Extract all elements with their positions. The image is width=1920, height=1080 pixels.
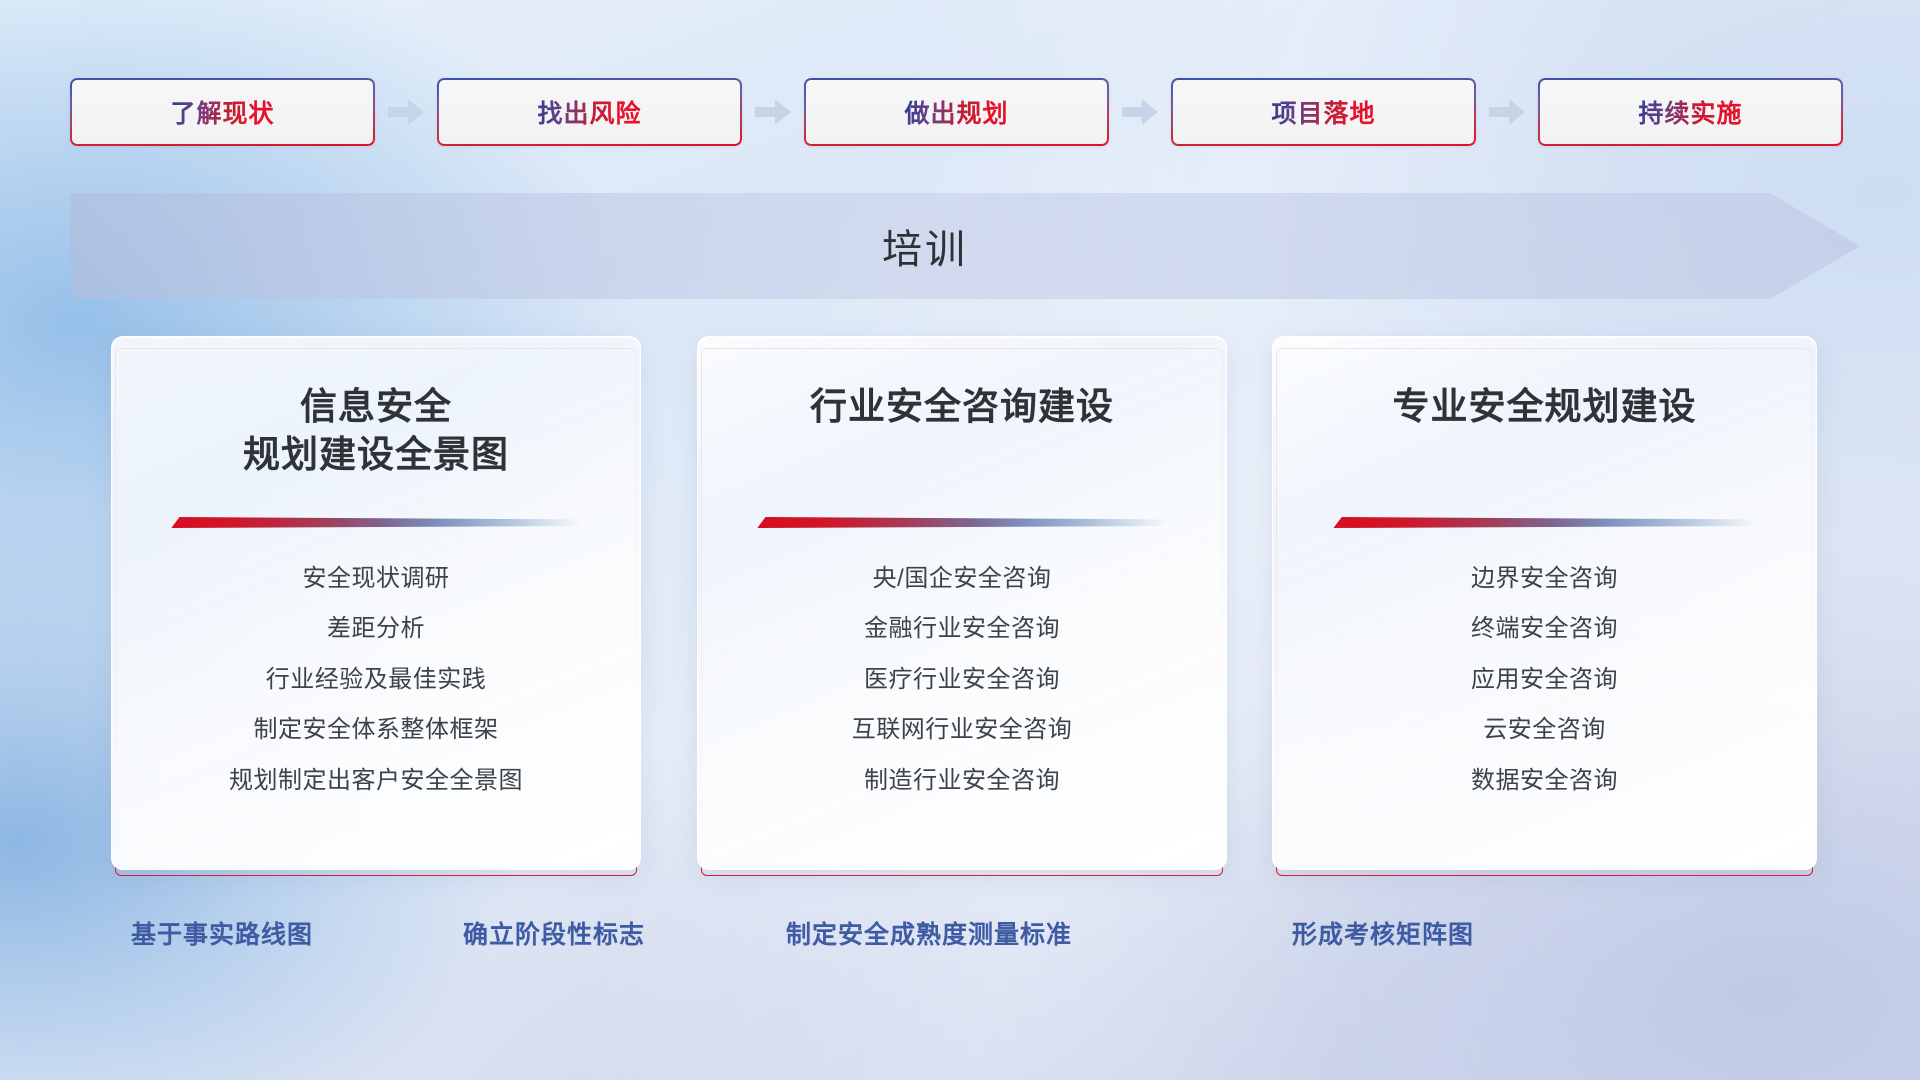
list-item: 差距分析 — [138, 604, 614, 654]
training-banner: 培训 — [70, 193, 1860, 299]
list-item: 医疗行业安全咨询 — [724, 655, 1200, 705]
process-step-label: 做出规划 — [904, 94, 1008, 130]
list-item: 安全现状调研 — [138, 554, 614, 604]
feature-card-1[interactable]: 信息安全 规划建设全景图 安全现状调研 差距分析 行业经验及最佳实践 制定安全体… — [111, 336, 641, 870]
list-item: 终端安全咨询 — [1299, 604, 1790, 654]
card-title-line: 专业安全规划建设 — [1299, 383, 1790, 431]
process-step-label: 了解现状 — [170, 94, 274, 130]
feature-card-2[interactable]: 行业安全咨询建设 央/国企安全咨询 金融行业安全咨询 医疗行业安全咨询 互联网行… — [697, 336, 1227, 870]
card-title-line: 信息安全 — [138, 383, 614, 431]
process-step-label: 找出风险 — [537, 94, 641, 130]
card-title-line: 规划建设全景图 — [138, 431, 614, 479]
feature-card-2-wrapper: 行业安全咨询建设 央/国企安全咨询 金融行业安全咨询 医疗行业安全咨询 互联网行… — [697, 336, 1227, 870]
card-divider-gradient — [171, 517, 580, 528]
process-step-label: 项目落地 — [1271, 94, 1375, 130]
feature-card-row: 信息安全 规划建设全景图 安全现状调研 差距分析 行业经验及最佳实践 制定安全体… — [0, 336, 1920, 876]
caption-label: 形成考核矩阵图 — [1292, 915, 1474, 951]
right-arrow-icon — [1109, 97, 1171, 127]
process-step-4[interactable]: 项目落地 — [1171, 78, 1476, 146]
card-divider-gradient — [1333, 517, 1755, 528]
list-item: 互联网行业安全咨询 — [724, 705, 1200, 755]
card-title: 信息安全 规划建设全景图 — [138, 383, 614, 495]
card-title: 行业安全咨询建设 — [724, 383, 1200, 495]
process-step-label: 持续实施 — [1638, 94, 1742, 130]
right-arrow-icon — [742, 97, 804, 127]
caption-label: 基于事实路线图 — [131, 915, 313, 951]
card-divider-gradient — [757, 517, 1166, 528]
card-item-list: 边界安全咨询 终端安全咨询 应用安全咨询 云安全咨询 数据安全咨询 — [1299, 554, 1790, 806]
caption-label: 制定安全成熟度测量标准 — [786, 915, 1072, 951]
list-item: 应用安全咨询 — [1299, 655, 1790, 705]
process-step-1[interactable]: 了解现状 — [70, 78, 375, 146]
list-item: 制定安全体系整体框架 — [138, 705, 614, 755]
card-item-list: 安全现状调研 差距分析 行业经验及最佳实践 制定安全体系整体框架 规划制定出客户… — [138, 554, 614, 806]
card-title: 专业安全规划建设 — [1299, 383, 1790, 495]
list-item: 行业经验及最佳实践 — [138, 655, 614, 705]
list-item: 云安全咨询 — [1299, 705, 1790, 755]
training-banner-label: 培训 — [70, 193, 1860, 299]
list-item: 金融行业安全咨询 — [724, 604, 1200, 654]
right-arrow-icon — [375, 97, 437, 127]
process-step-2[interactable]: 找出风险 — [437, 78, 742, 146]
list-item: 规划制定出客户安全全景图 — [138, 756, 614, 806]
feature-card-1-wrapper: 信息安全 规划建设全景图 安全现状调研 差距分析 行业经验及最佳实践 制定安全体… — [111, 336, 641, 870]
process-step-3[interactable]: 做出规划 — [804, 78, 1109, 146]
card-item-list: 央/国企安全咨询 金融行业安全咨询 医疗行业安全咨询 互联网行业安全咨询 制造行… — [724, 554, 1200, 806]
feature-card-3[interactable]: 专业安全规划建设 边界安全咨询 终端安全咨询 应用安全咨询 云安全咨询 数据安全… — [1272, 336, 1817, 870]
card-title-line: 行业安全咨询建设 — [724, 383, 1200, 431]
caption-row: 基于事实路线图 确立阶段性标志 制定安全成熟度测量标准 形成考核矩阵图 — [0, 915, 1920, 967]
list-item: 边界安全咨询 — [1299, 554, 1790, 604]
caption-label: 确立阶段性标志 — [463, 915, 645, 951]
slide-stage: 了解现状 找出风险 做出规划 项目落地 — [0, 0, 1920, 1080]
feature-card-3-wrapper: 专业安全规划建设 边界安全咨询 终端安全咨询 应用安全咨询 云安全咨询 数据安全… — [1272, 336, 1817, 870]
list-item: 制造行业安全咨询 — [724, 756, 1200, 806]
list-item: 数据安全咨询 — [1299, 756, 1790, 806]
list-item: 央/国企安全咨询 — [724, 554, 1200, 604]
process-step-row: 了解现状 找出风险 做出规划 项目落地 — [70, 78, 1853, 146]
right-arrow-icon — [1476, 97, 1538, 127]
process-step-5[interactable]: 持续实施 — [1538, 78, 1843, 146]
